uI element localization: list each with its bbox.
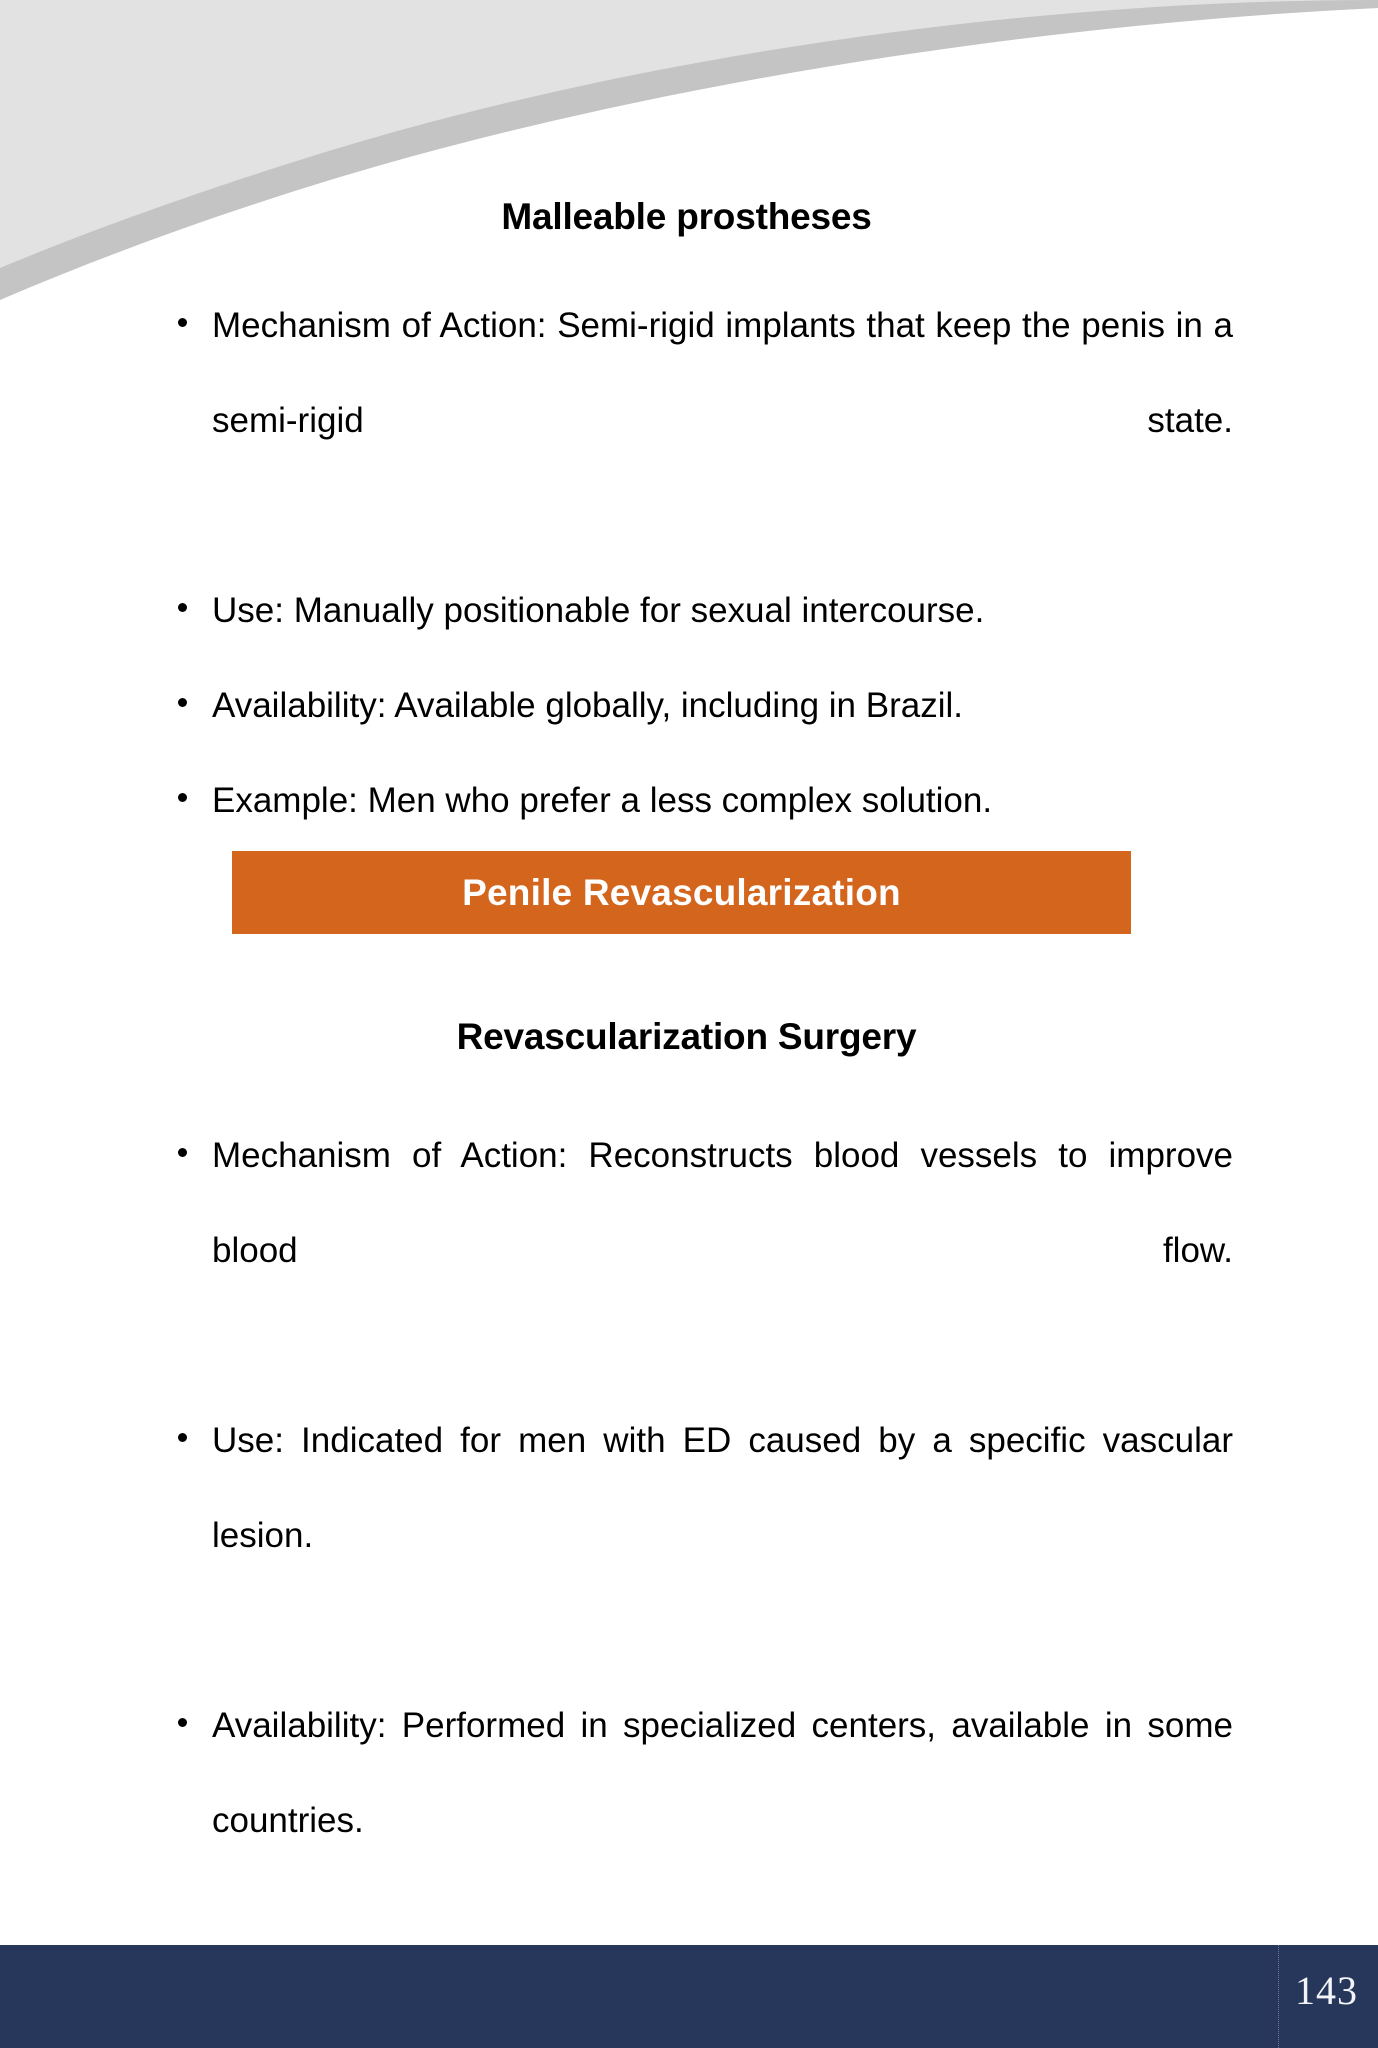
top-left-swoosh-decoration [0,0,1378,300]
bullet-dot-icon [178,318,187,327]
bullet-dot-icon [178,1433,187,1442]
bullet-list-malleable: Mechanism of Action: Semi-rigid implants… [178,278,1233,848]
section-heading-malleable: Malleable prostheses [178,196,1195,238]
slide-page: Malleable prostheses Mechanism of Action… [0,0,1378,2048]
bullet-dot-icon [178,603,187,612]
swoosh-arc-band [0,0,1378,300]
list-item-text: Use: Indicated for men with ED caused by… [212,1393,1233,1678]
list-item: Use: Manually positionable for sexual in… [178,563,1233,658]
bullet-dot-icon [178,1148,187,1157]
page-number: 143 [1295,1971,1358,2011]
bullet-dot-icon [178,793,187,802]
footer-divider [1278,1945,1280,2048]
list-item-text: Mechanism of Action: Semi-rigid implants… [212,278,1233,563]
list-item: Mechanism of Action: Reconstructs blood … [178,1108,1233,1393]
list-item: Availability: Performed in specialized c… [178,1678,1233,1963]
section-banner-penile-revascularization: Penile Revascularization [232,851,1131,934]
page-footer: 143 [0,1945,1378,2048]
list-item-text: Example: Men who prefer a less complex s… [212,753,1233,848]
list-item-text: Use: Manually positionable for sexual in… [212,563,1233,658]
bullet-dot-icon [178,1718,187,1727]
footer-background [0,1945,1378,2048]
section-heading-revascularization: Revascularization Surgery [178,1016,1195,1058]
list-item-text: Mechanism of Action: Reconstructs blood … [212,1108,1233,1393]
list-item: Example: Men who prefer a less complex s… [178,753,1233,848]
list-item-text: Availability: Available globally, includ… [212,658,1233,753]
list-item-text: Availability: Performed in specialized c… [212,1678,1233,1963]
swoosh-fill-shape [0,0,1378,300]
list-item: Use: Indicated for men with ED caused by… [178,1393,1233,1678]
list-item: Mechanism of Action: Semi-rigid implants… [178,278,1233,563]
section-banner-label: Penile Revascularization [462,874,901,911]
list-item: Availability: Available globally, includ… [178,658,1233,753]
bullet-list-revascularization: Mechanism of Action: Reconstructs blood … [178,1108,1233,2048]
swoosh-svg [0,0,1378,300]
bullet-dot-icon [178,698,187,707]
